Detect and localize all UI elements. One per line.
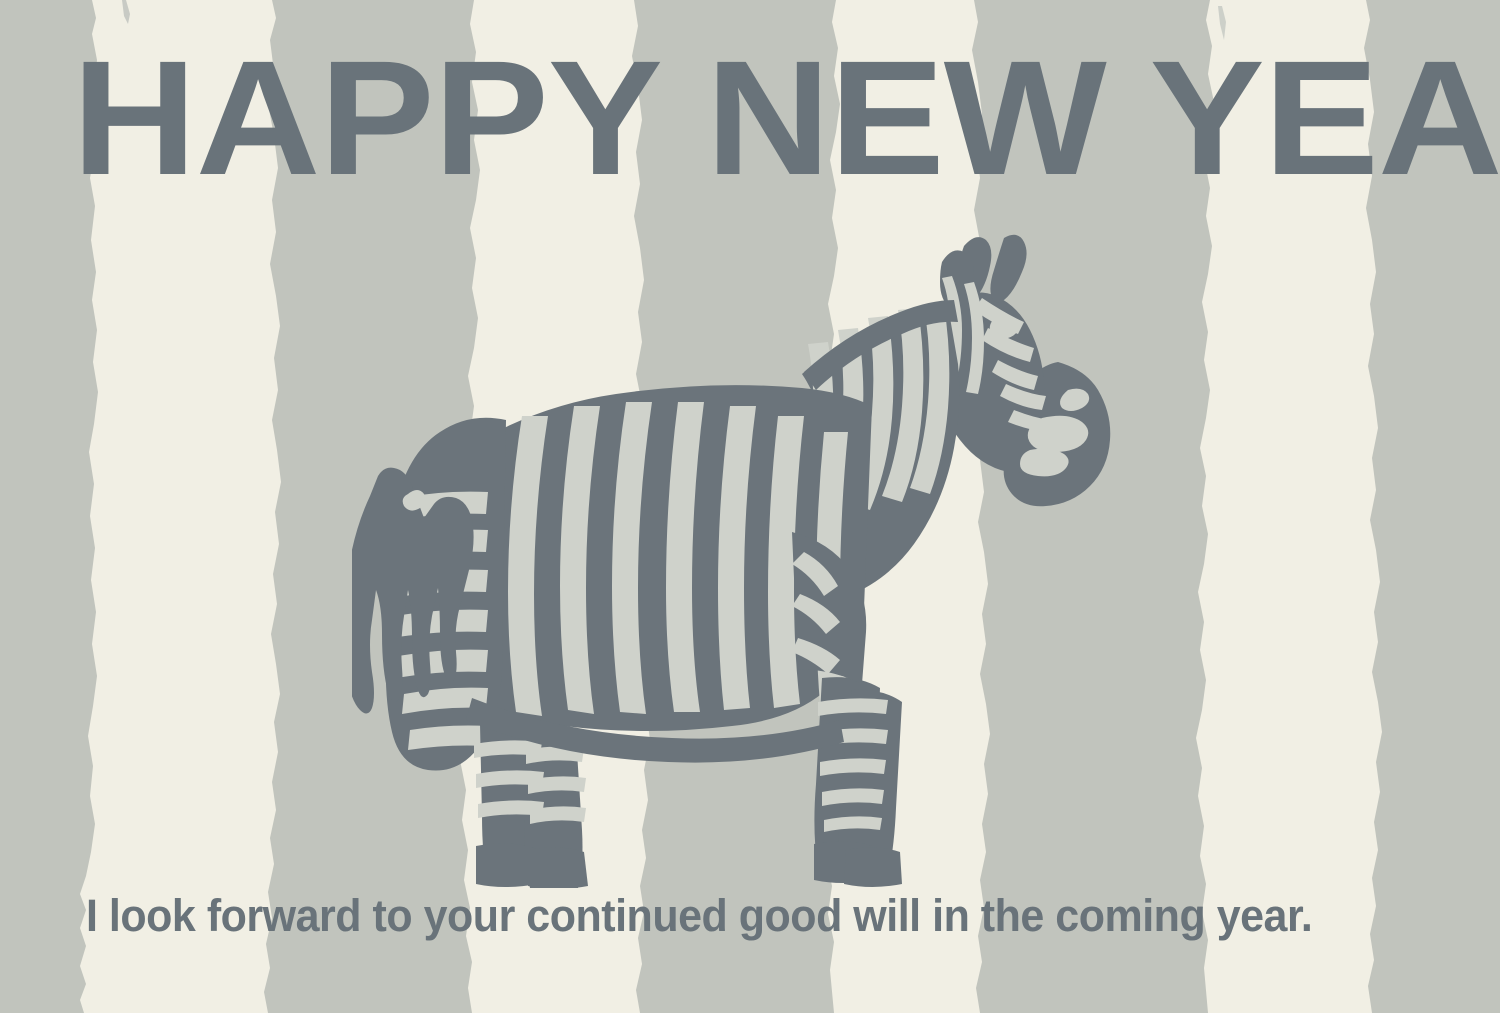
- greeting-card: HAPPY NEW YEAR I look forward to your co…: [0, 0, 1500, 1013]
- tagline-text: I look forward to your continued good wi…: [86, 893, 1312, 938]
- page-title: HAPPY NEW YEAR: [72, 36, 1500, 199]
